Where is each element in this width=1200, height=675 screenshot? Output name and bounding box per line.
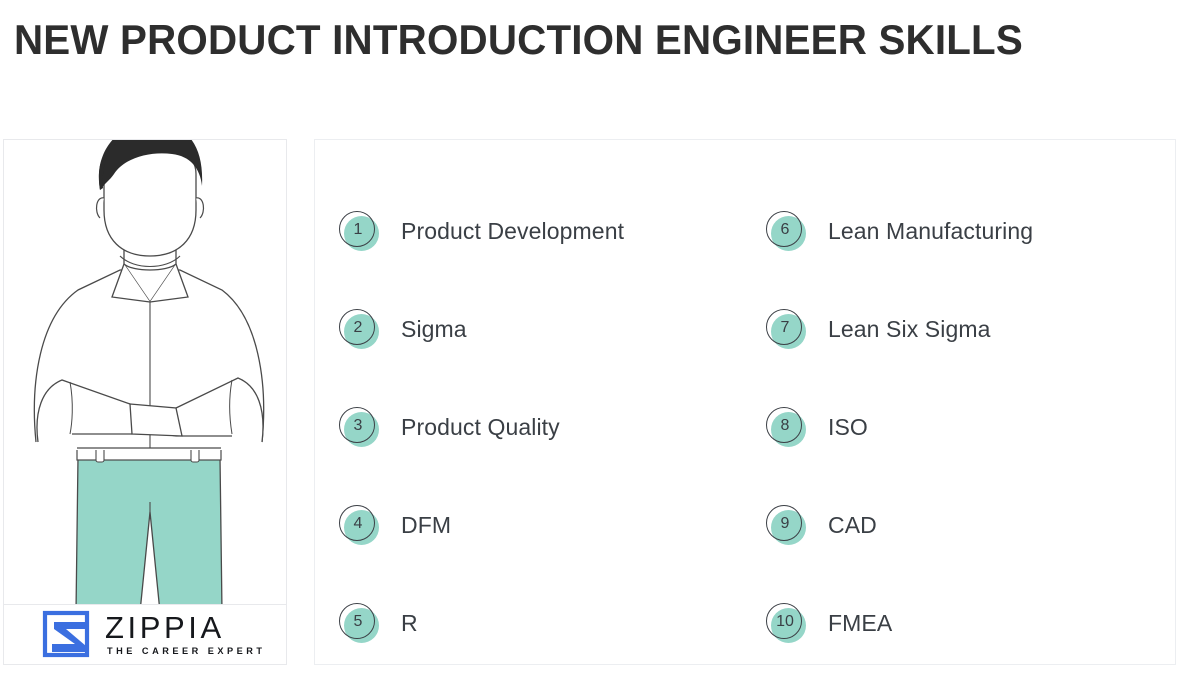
skills-card: 1 Product Development 6 Lean Manufacturi… — [314, 139, 1176, 665]
list-item[interactable]: 4 DFM — [315, 476, 742, 574]
badge-number: 9 — [766, 505, 804, 543]
badge-number: 5 — [339, 603, 377, 641]
skill-label: DFM — [401, 512, 451, 539]
skill-label: R — [401, 610, 418, 637]
zippia-tagline: THE CAREER EXPERT — [107, 646, 266, 656]
list-item[interactable]: 9 CAD — [742, 476, 1175, 574]
list-item[interactable]: 2 Sigma — [315, 280, 742, 378]
badge-number: 10 — [766, 603, 804, 641]
badge-number: 4 — [339, 505, 377, 543]
page-title: NEW PRODUCT INTRODUCTION ENGINEER SKILLS — [14, 14, 1128, 66]
list-item[interactable]: 5 R — [315, 574, 742, 672]
number-badge-icon: 7 — [766, 309, 806, 349]
number-badge-icon: 3 — [339, 407, 379, 447]
person-illustration — [4, 140, 287, 604]
badge-number: 6 — [766, 211, 804, 249]
badge-number: 7 — [766, 309, 804, 347]
skills-list: 1 Product Development 6 Lean Manufacturi… — [315, 140, 1175, 664]
illustration-card — [3, 139, 287, 665]
skill-label: Sigma — [401, 316, 467, 343]
number-badge-icon: 1 — [339, 211, 379, 251]
badge-number: 8 — [766, 407, 804, 445]
number-badge-icon: 8 — [766, 407, 806, 447]
skill-label: FMEA — [828, 610, 892, 637]
list-item[interactable]: 8 ISO — [742, 378, 1175, 476]
zippia-wordmark: ZIPPIA — [105, 612, 266, 644]
number-badge-icon: 4 — [339, 505, 379, 545]
list-item[interactable]: 1 Product Development — [315, 182, 742, 280]
skill-label: Product Development — [401, 218, 624, 245]
zippia-logo: ZIPPIA THE CAREER EXPERT — [42, 610, 266, 658]
number-badge-icon: 6 — [766, 211, 806, 251]
skill-label: Lean Six Sigma — [828, 316, 991, 343]
number-badge-icon: 2 — [339, 309, 379, 349]
list-item[interactable]: 10 FMEA — [742, 574, 1175, 672]
number-badge-icon: 10 — [766, 603, 806, 643]
skill-label: Lean Manufacturing — [828, 218, 1033, 245]
zippia-z-mark-icon — [42, 610, 94, 658]
badge-number: 3 — [339, 407, 377, 445]
skill-label: CAD — [828, 512, 877, 539]
list-item[interactable]: 3 Product Quality — [315, 378, 742, 476]
list-item[interactable]: 7 Lean Six Sigma — [742, 280, 1175, 378]
number-badge-icon: 9 — [766, 505, 806, 545]
skill-label: Product Quality — [401, 414, 560, 441]
badge-number: 1 — [339, 211, 377, 249]
number-badge-icon: 5 — [339, 603, 379, 643]
list-item[interactable]: 6 Lean Manufacturing — [742, 182, 1175, 280]
logo-divider — [4, 604, 287, 605]
zippia-wordmark-group: ZIPPIA THE CAREER EXPERT — [105, 612, 266, 657]
badge-number: 2 — [339, 309, 377, 347]
skill-label: ISO — [828, 414, 868, 441]
